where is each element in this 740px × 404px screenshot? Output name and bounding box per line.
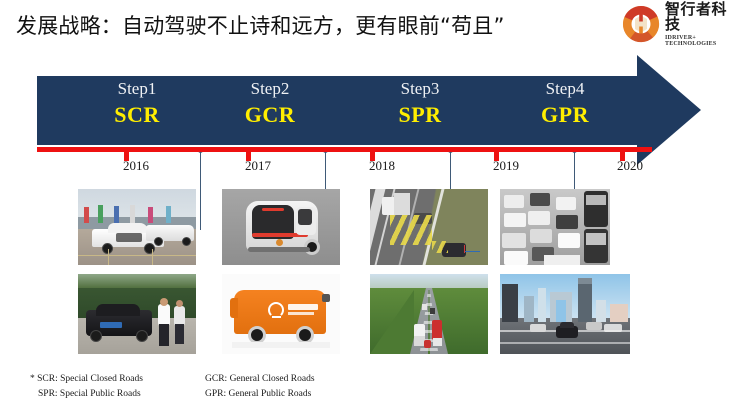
footnote-text: Special Closed Roads	[60, 374, 143, 384]
step-label: Step1	[72, 78, 202, 101]
photo-gpr-bottom	[500, 274, 630, 354]
footnote-row-1: * SCR: Special Closed Roads GCR: General…	[30, 372, 385, 387]
photo-gcr-bottom	[222, 274, 340, 354]
timeline-bar	[37, 147, 652, 152]
footnote-row-2: SPR: Special Public Roads GPR: General P…	[30, 387, 385, 402]
slide-canvas: 发展战略：自动驾驶不止诗和远方，更有眼前“苟且” 智行者科技 IDRIVER+ …	[0, 0, 740, 404]
photo-scr-top	[78, 189, 196, 265]
footnote-scr: * SCR: Special Closed Roads	[30, 372, 205, 387]
footnote-text: General Closed Roads	[230, 374, 315, 384]
footnote-abbr: SPR:	[38, 389, 58, 399]
timeline-year-2019: 2019	[476, 158, 536, 174]
page-title: 发展战略：自动驾驶不止诗和远方，更有眼前“苟且”	[16, 10, 616, 40]
footnote-text: Special Public Roads	[60, 389, 141, 399]
banner-step-2: Step2 GCR	[205, 78, 335, 128]
step-label: Step3	[355, 78, 485, 101]
footnote: * SCR: Special Closed Roads GCR: General…	[30, 372, 385, 401]
timeline-year-2016: 2016	[106, 158, 166, 174]
footnote-gpr: GPR: General Public Roads	[205, 387, 385, 402]
photo-gcr-top	[222, 189, 340, 265]
footnote-text: General Public Roads	[229, 389, 312, 399]
step-code: GPR	[500, 101, 630, 129]
step-label: Step4	[500, 78, 630, 101]
photo-gpr-top	[500, 189, 610, 265]
idriver-circular-logo-icon	[622, 5, 660, 43]
timeline-year-2020: 2020	[600, 158, 660, 174]
footnote-marker: *	[30, 374, 35, 384]
step-code: GCR	[205, 101, 335, 129]
timeline-year-2018: 2018	[352, 158, 412, 174]
footnote-abbr: GPR:	[205, 389, 226, 399]
banner-step-3: Step3 SPR	[355, 78, 485, 128]
photo-scr-bottom	[78, 274, 196, 354]
connector-line-1	[200, 148, 201, 230]
logo-company-name-cn: 智行者科技	[665, 2, 738, 32]
company-logo: 智行者科技 IDRIVER+ TECHNOLOGIES	[622, 3, 738, 45]
footnote-abbr: SCR:	[37, 374, 58, 384]
photo-spr-top	[370, 189, 488, 265]
footnote-abbr: GCR:	[205, 374, 227, 384]
banner-step-4: Step4 GPR	[500, 78, 630, 128]
photo-spr-bottom	[370, 274, 488, 354]
timeline-year-2017: 2017	[228, 158, 288, 174]
step-code: SCR	[72, 101, 202, 129]
step-code: SPR	[355, 101, 485, 129]
footnote-gcr: GCR: General Closed Roads	[205, 372, 385, 387]
banner-step-1: Step1 SCR	[72, 78, 202, 128]
footnote-spr: SPR: Special Public Roads	[30, 387, 205, 402]
logo-company-name-en: IDRIVER+ TECHNOLOGIES	[665, 35, 738, 47]
step-label: Step2	[205, 78, 335, 101]
